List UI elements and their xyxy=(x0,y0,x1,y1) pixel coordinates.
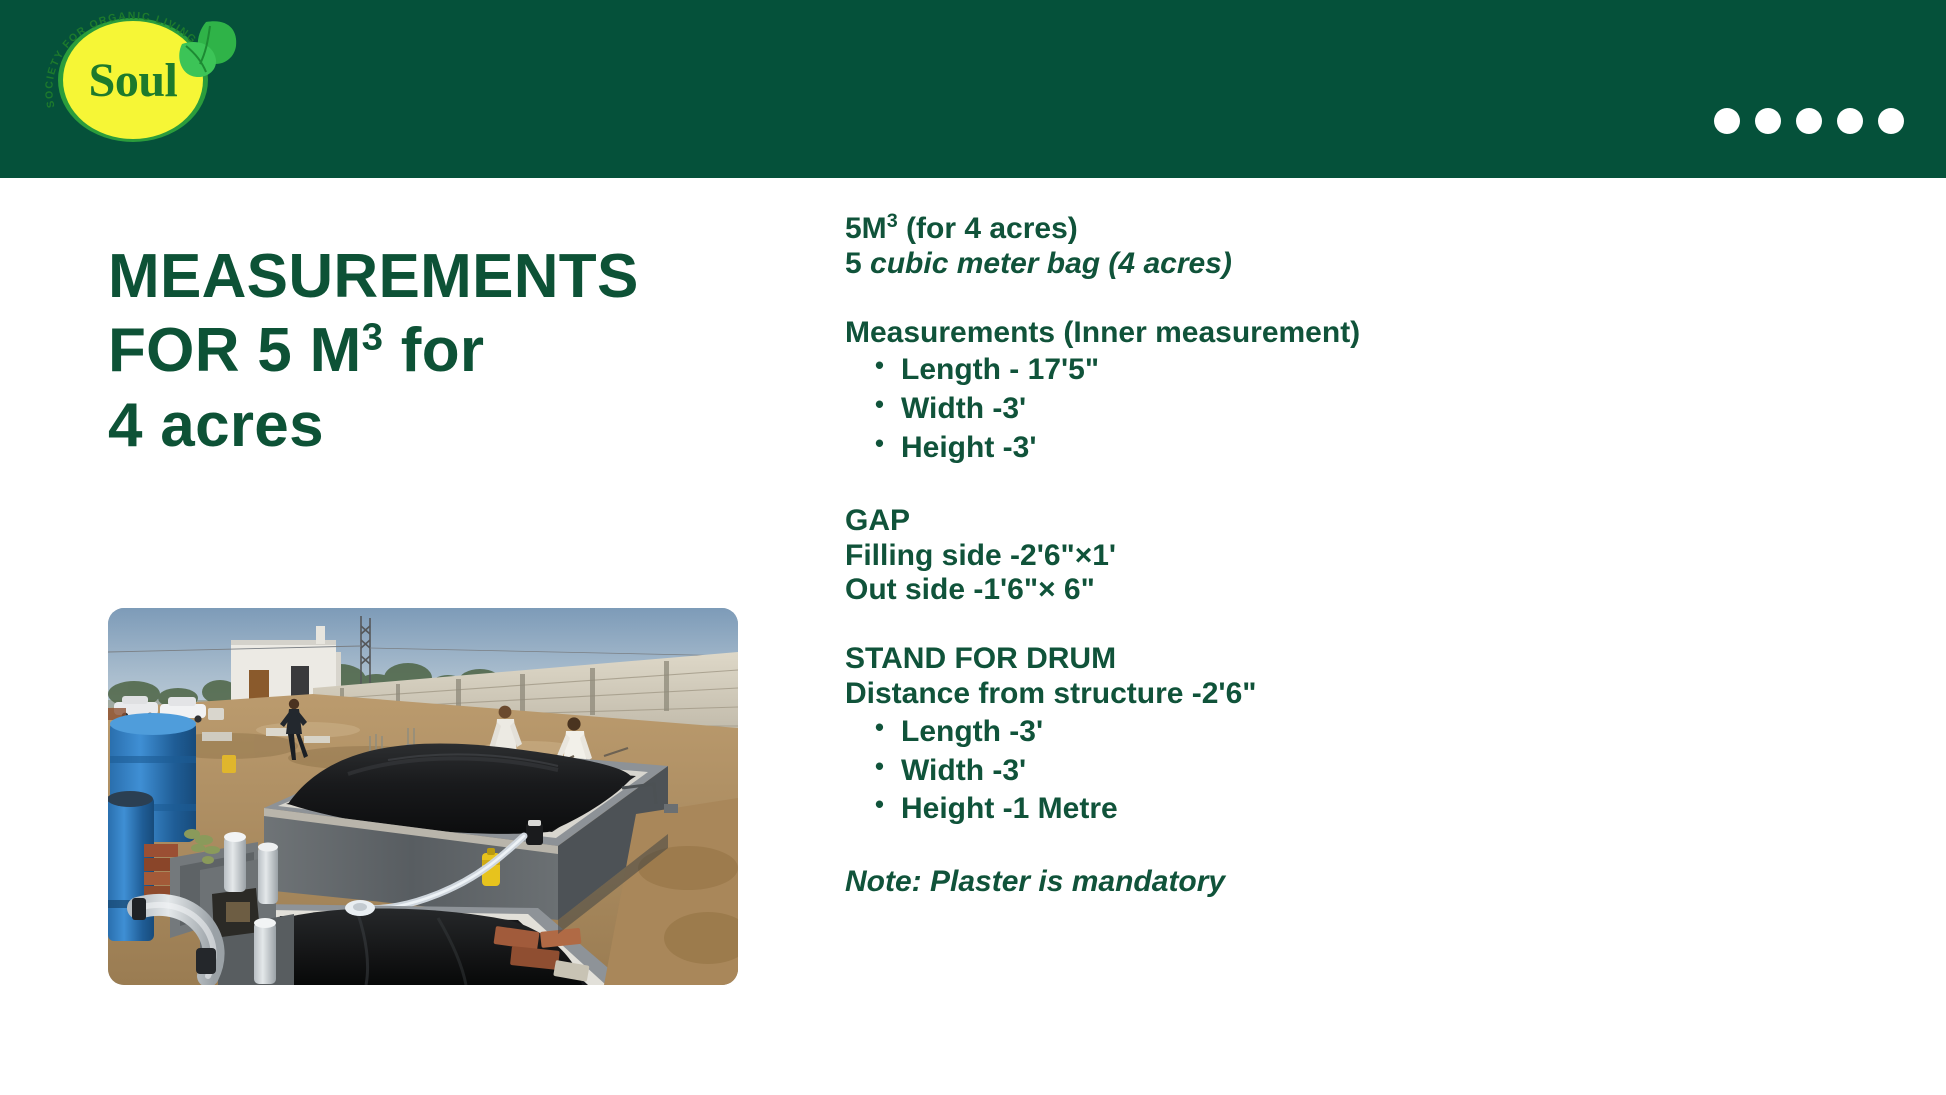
gap-out-side: Out side -1'6"× 6" xyxy=(845,573,1805,608)
measurement-details: 5M3 (for 4 acres) 5 cubic meter bag (4 a… xyxy=(845,212,1805,900)
bag-count: 5 xyxy=(845,247,870,280)
volume-tail: (for 4 acres) xyxy=(898,212,1078,245)
header-dot-2 xyxy=(1755,108,1781,134)
photo-illustration xyxy=(108,608,738,985)
list-item: Width -3' xyxy=(901,392,1805,427)
list-item: Height -3' xyxy=(901,431,1805,466)
title-line-3: 4 acres xyxy=(108,389,768,463)
header-dot-3 xyxy=(1796,108,1822,134)
slide-body: MEASUREMENTS FOR 5 M3 for 4 acres xyxy=(0,178,1946,1095)
list-item: Length -3' xyxy=(901,715,1805,750)
header-dot-4 xyxy=(1837,108,1863,134)
stand-list: Length -3' Width -3' Height -1 Metre xyxy=(845,715,1805,827)
gap-filling-side: Filling side -2'6"×1' xyxy=(845,539,1805,574)
title-line-1: MEASUREMENTS xyxy=(108,240,768,314)
measurements-heading: Measurements (Inner measurement) xyxy=(845,316,1805,351)
header-dot-group xyxy=(1714,108,1904,134)
valve-cap xyxy=(526,823,543,845)
volume-superscript: 3 xyxy=(887,210,898,232)
title-cubic-superscript: 3 xyxy=(362,316,384,359)
plaster-note: Note: Plaster is mandatory xyxy=(845,865,1805,900)
title-line-2: FOR 5 M3 for xyxy=(108,314,768,388)
list-item: Width -3' xyxy=(901,754,1805,789)
detail-heading-volume: 5M3 (for 4 acres) xyxy=(845,212,1805,247)
leaf-icon xyxy=(166,14,240,88)
bag-description: cubic meter bag (4 acres) xyxy=(870,247,1232,280)
list-item: Length - 17'5" xyxy=(901,353,1805,388)
measurements-list: Length - 17'5" Width -3' Height -3' xyxy=(845,353,1805,465)
biogas-site-photo xyxy=(108,608,738,985)
detail-heading-bag: 5 cubic meter bag (4 acres) xyxy=(845,247,1805,282)
stand-distance: Distance from structure -2'6" xyxy=(845,677,1805,712)
header-dot-5 xyxy=(1878,108,1904,134)
title-line-2-text: FOR 5 M xyxy=(108,316,362,385)
spacer-4 xyxy=(845,831,1805,865)
title-line-2-tail: for xyxy=(383,316,484,385)
spacer-3 xyxy=(845,608,1805,642)
list-item: Height -1 Metre xyxy=(901,792,1805,827)
spacer-2 xyxy=(845,470,1805,504)
brand-logo: SOCIETY FOR ORGANIC LIVING Soul xyxy=(46,6,226,156)
header-dot-1 xyxy=(1714,108,1740,134)
header-band: SOCIETY FOR ORGANIC LIVING Soul xyxy=(0,0,1946,178)
spacer-1 xyxy=(845,282,1805,316)
volume-text: 5M xyxy=(845,212,887,245)
stand-heading: STAND FOR DRUM xyxy=(845,642,1805,677)
gap-heading: GAP xyxy=(845,504,1805,539)
page-title: MEASUREMENTS FOR 5 M3 for 4 acres xyxy=(108,240,768,463)
